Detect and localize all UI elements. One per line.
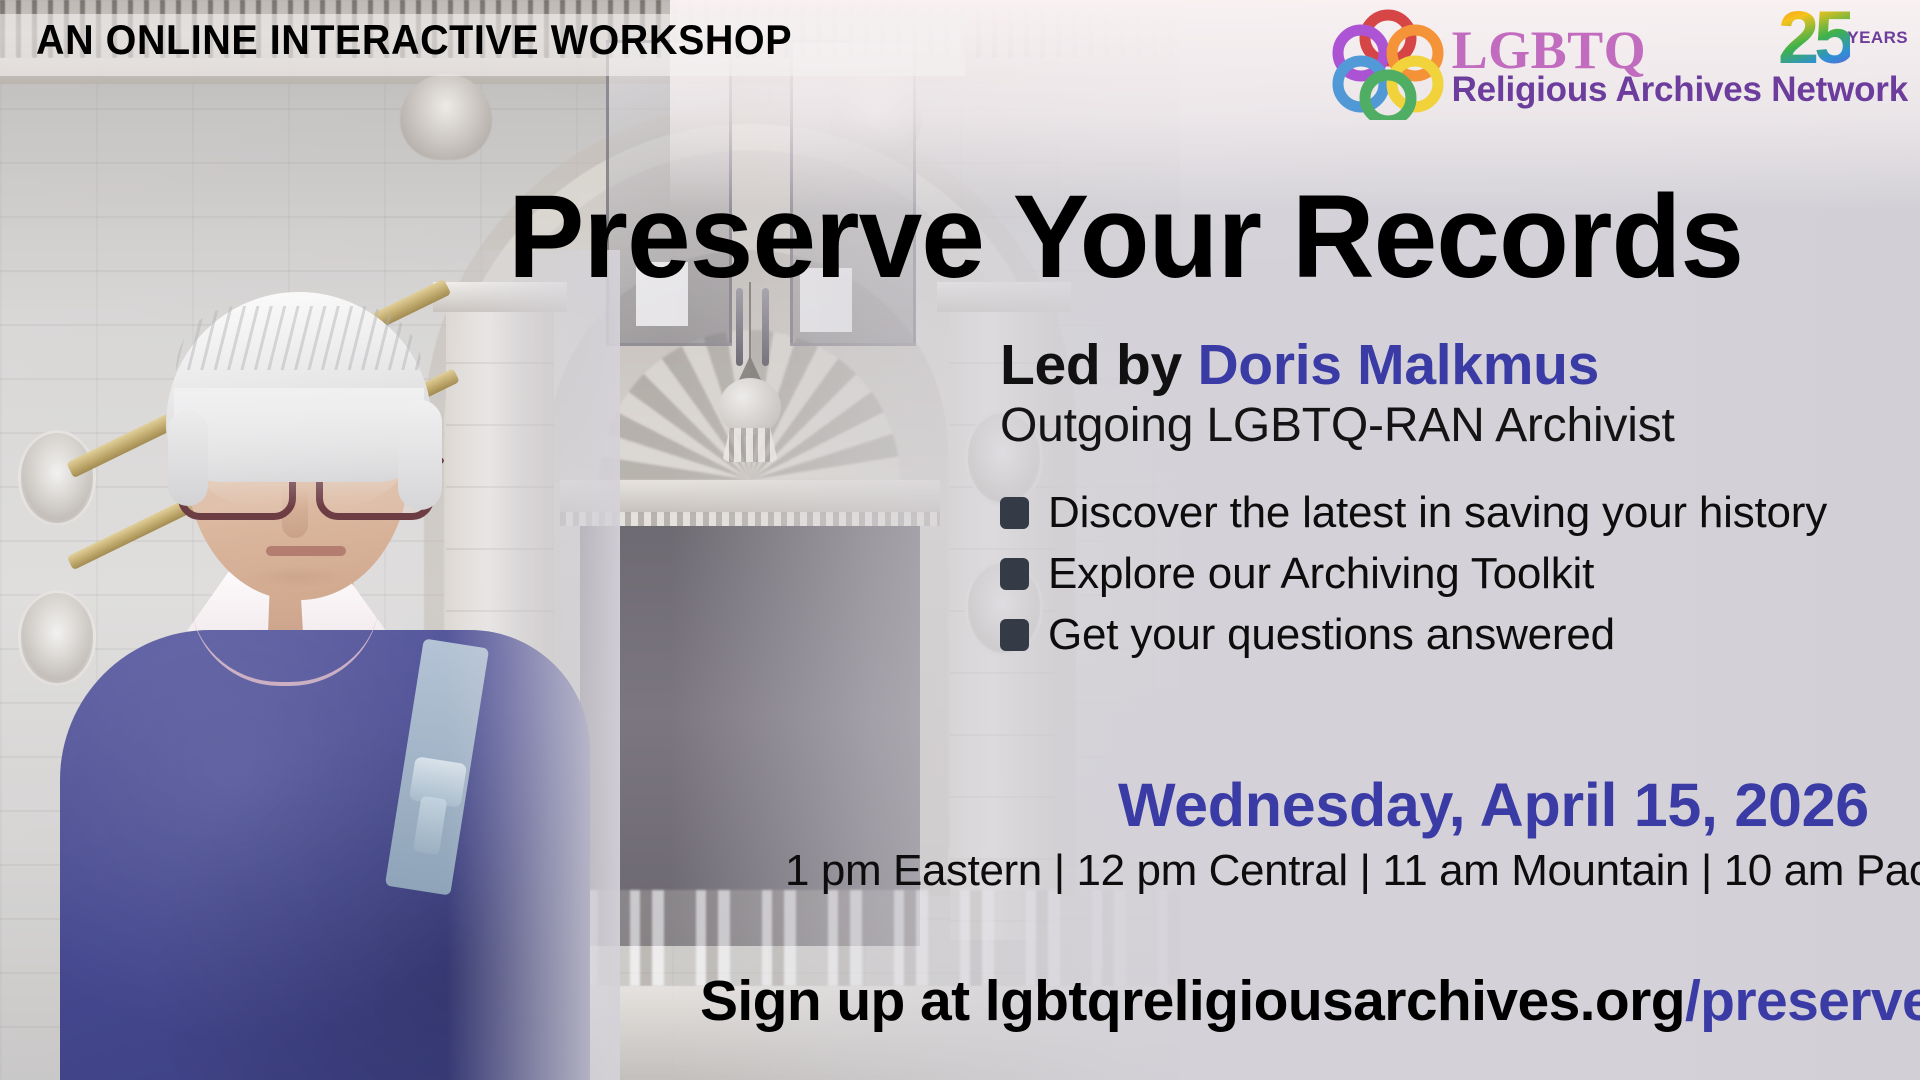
portrait-mouth: [266, 546, 346, 556]
portrait-hair-texture: [176, 306, 422, 370]
bullet-square-icon: [1000, 497, 1029, 529]
backpack-buckle: [409, 756, 467, 808]
rainbow-rings-icon: [1330, 8, 1446, 120]
bullet-square-icon: [1000, 558, 1029, 590]
anniversary-label: YEARS: [1847, 28, 1908, 48]
presenter-line: Led by Doris Malkmus: [1000, 332, 1599, 398]
list-item-label: Get your questions answered: [1048, 610, 1615, 660]
presenter-role: Outgoing LGBTQ-RAN Archivist: [1000, 398, 1675, 453]
presenter-name: Doris Malkmus: [1197, 333, 1599, 397]
list-item: Discover the latest in saving your histo…: [1000, 488, 1827, 538]
portrait-hair-side-right: [398, 400, 442, 510]
presenter-portrait-photo: [0, 250, 620, 1080]
signup-prefix: Sign up at lgbtqreligiousarchives.org: [700, 969, 1685, 1033]
signup-slug: /preserve: [1685, 969, 1920, 1033]
list-item: Explore our Archiving Toolkit: [1000, 549, 1827, 599]
portrait-chin: [248, 566, 348, 588]
presenter-lead-in: Led by: [1000, 333, 1197, 397]
signup-call-to-action[interactable]: Sign up at lgbtqreligiousarchives.org/pr…: [700, 968, 1920, 1034]
anniversary-number: 25: [1778, 0, 1850, 79]
portrait-sweater: [60, 630, 590, 1080]
portrait-hair-side-left: [168, 410, 208, 506]
eyebrow-headline: AN ONLINE INTERACTIVE WORKSHOP: [36, 16, 792, 64]
event-date: Wednesday, April 15, 2026: [1118, 770, 1869, 840]
lion-head-carving: [400, 74, 492, 160]
bullet-square-icon: [1000, 619, 1029, 651]
anniversary-badge: 25 YEARS: [1778, 2, 1906, 74]
list-item-label: Discover the latest in saving your histo…: [1048, 488, 1827, 538]
benefits-list: Discover the latest in saving your histo…: [1000, 488, 1827, 671]
page-title: Preserve Your Records: [508, 178, 1866, 296]
workshop-flyer: AN ONLINE INTERACTIVE WORKSHOP LGBTQ Rel…: [0, 0, 1920, 1080]
event-times: 1 pm Eastern | 12 pm Central | 11 am Mou…: [785, 846, 1920, 896]
list-item: Get your questions answered: [1000, 610, 1827, 660]
list-item-label: Explore our Archiving Toolkit: [1048, 549, 1594, 599]
